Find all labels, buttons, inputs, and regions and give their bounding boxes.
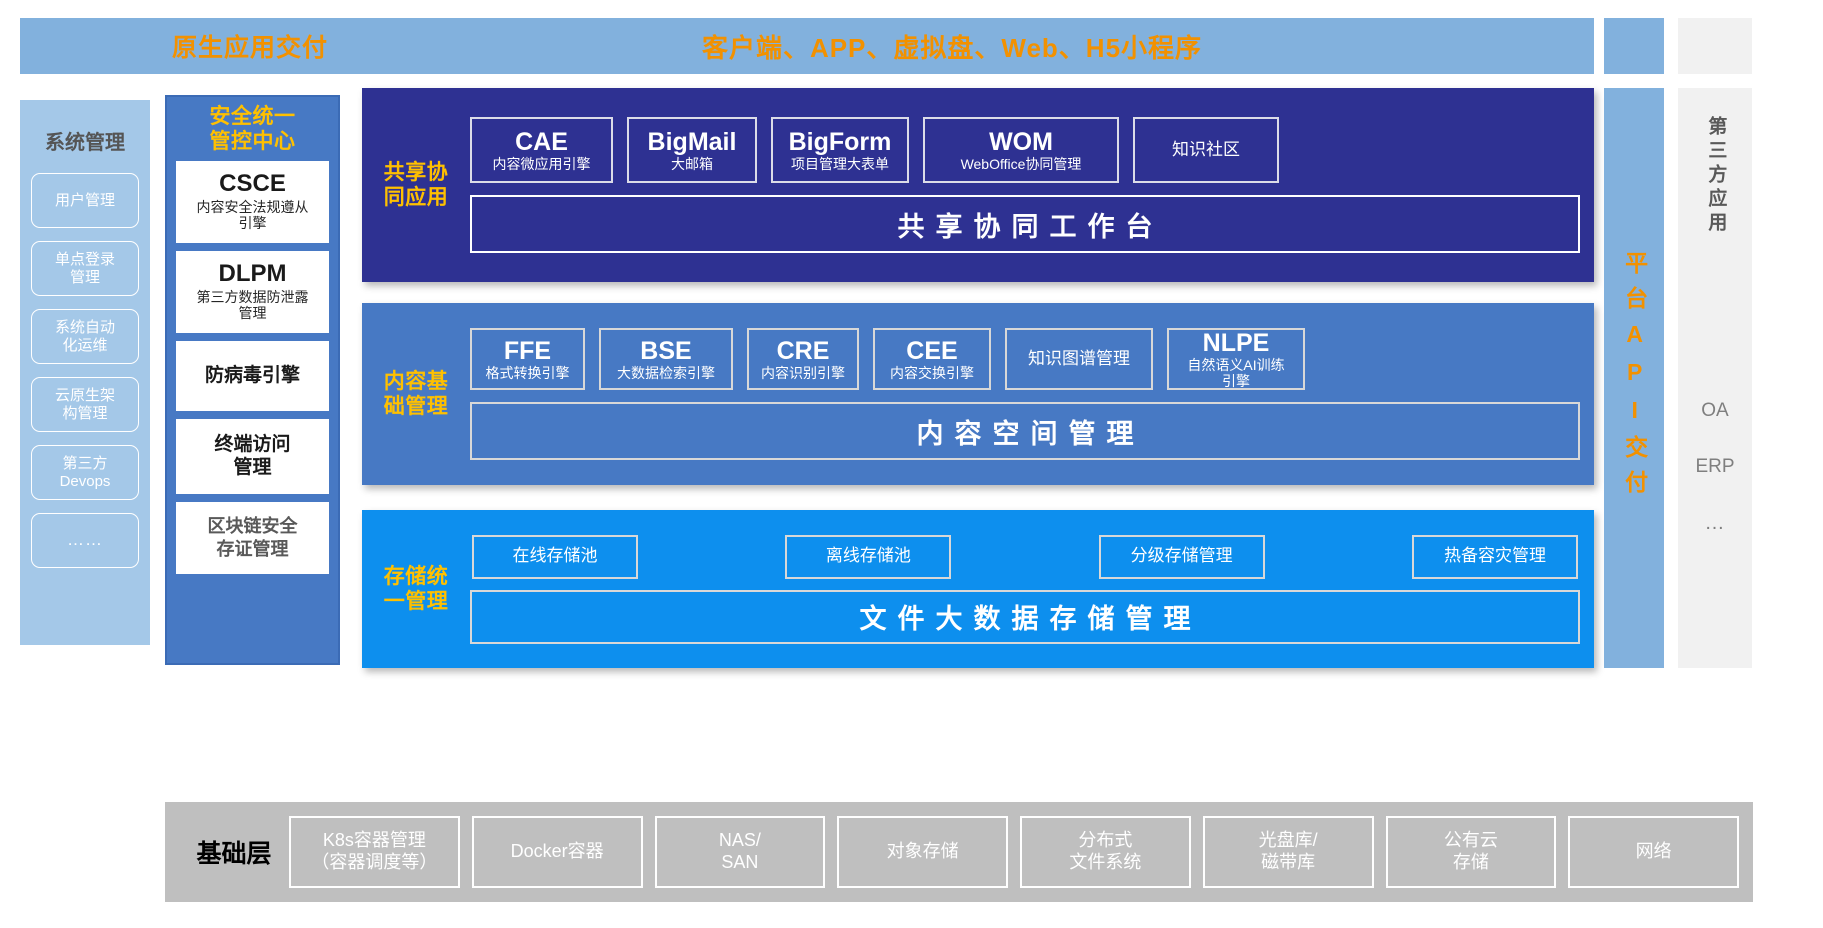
base-chip-optical-tape-library[interactable]: 光盘库/磁带库	[1203, 816, 1374, 888]
base-chip-k8s[interactable]: K8s容器管理（容器调度等）	[289, 816, 460, 888]
bigmail-desc: 大邮箱	[671, 156, 713, 172]
shared-collaboration-panel: 共享协同应用 CAE 内容微应用引擎 BigMail 大邮箱 BigForm 项…	[362, 88, 1594, 282]
third-party-title: 第三方应用	[1704, 116, 1727, 366]
antivirus-engine-label: 防病毒引擎	[179, 364, 326, 387]
storage-unified-management-panel: 存储统一管理 在线存储池 离线存储池 分级存储管理 热备容灾管理 文件大数据存储…	[362, 510, 1594, 668]
system-management-title: 系统管理	[20, 126, 150, 155]
hot-standby-dr-label: 热备容灾管理	[1444, 546, 1546, 566]
wom-code: WOM	[989, 128, 1053, 156]
platform-api-delivery-column: 平台API交付	[1604, 88, 1664, 668]
chip-bigmail[interactable]: BigMail 大邮箱	[627, 117, 757, 183]
wom-desc: WebOffice协同管理	[961, 156, 1082, 172]
cre-desc: 内容识别引擎	[761, 365, 845, 381]
bigform-desc: 项目管理大表单	[791, 156, 889, 172]
csce-desc: 内容安全法规遵从引擎	[179, 199, 326, 231]
terminal-access-label: 终端访问管理	[179, 433, 326, 479]
nlpe-desc: 自然语义AI训练引擎	[1187, 357, 1284, 389]
bigform-code: BigForm	[789, 128, 892, 156]
content-space-management-bar[interactable]: 内容空间管理	[470, 402, 1580, 460]
content-base-management-panel: 内容基础管理 FFE 格式转换引擎 BSE 大数据检索引擎 CRE 内容识别引擎…	[362, 303, 1594, 485]
chip-tiered-storage-management[interactable]: 分级存储管理	[1099, 535, 1265, 579]
sys-item-cloud-native-arch[interactable]: 云原生架构管理	[31, 377, 139, 432]
chip-online-storage-pool[interactable]: 在线存储池	[472, 535, 638, 579]
ffe-code: FFE	[504, 337, 551, 365]
native-app-delivery-label: 原生应用交付	[20, 28, 480, 64]
nlpe-code: NLPE	[1203, 329, 1270, 357]
tiered-storage-label: 分级存储管理	[1131, 546, 1233, 566]
sys-item-automated-ops[interactable]: 系统自动化运维	[31, 309, 139, 364]
chip-bigform[interactable]: BigForm 项目管理大表单	[771, 117, 909, 183]
system-management-column: 系统管理 用户管理 单点登录管理 系统自动化运维 云原生架构管理 第三方Devo…	[20, 100, 150, 645]
chip-ffe[interactable]: FFE 格式转换引擎	[470, 328, 585, 390]
sys-item-sso-management[interactable]: 单点登录管理	[31, 241, 139, 296]
security-item-dlpm[interactable]: DLPM 第三方数据防泄露管理	[176, 251, 329, 333]
cee-desc: 内容交换引擎	[890, 365, 974, 381]
base-chip-docker[interactable]: Docker容器	[472, 816, 643, 888]
third-party-item-oa[interactable]: OA	[1701, 400, 1728, 422]
file-bigdata-storage-bar[interactable]: 文件大数据存储管理	[470, 590, 1580, 644]
bse-desc: 大数据检索引擎	[617, 365, 715, 381]
storage-chip-row: 在线存储池 离线存储池 分级存储管理 热备容灾管理	[470, 535, 1580, 579]
shared-collaboration-workbench-bar[interactable]: 共享协同工作台	[470, 195, 1580, 253]
bigmail-code: BigMail	[648, 128, 737, 156]
content-base-management-body: FFE 格式转换引擎 BSE 大数据检索引擎 CRE 内容识别引擎 CEE 内容…	[470, 328, 1594, 460]
security-item-blockchain-evidence[interactable]: 区块链安全存证管理	[176, 502, 329, 574]
top-banner: 原生应用交付 客户端、APP、虚拟盘、Web、H5小程序	[20, 18, 1594, 74]
third-party-column-top-cap	[1678, 18, 1752, 74]
base-chip-nas-san[interactable]: NAS/SAN	[655, 816, 826, 888]
content-base-management-label: 内容基础管理	[362, 369, 470, 419]
api-column-top-cap	[1604, 18, 1664, 74]
dlpm-code: DLPM	[179, 261, 326, 288]
client-channels-label: 客户端、APP、虚拟盘、Web、H5小程序	[480, 28, 1594, 65]
cee-code: CEE	[906, 337, 957, 365]
ffe-desc: 格式转换引擎	[486, 365, 570, 381]
storage-body: 在线存储池 离线存储池 分级存储管理 热备容灾管理 文件大数据存储管理	[470, 535, 1594, 644]
knowledge-community-label: 知识社区	[1172, 140, 1240, 160]
base-chip-network[interactable]: 网络	[1568, 816, 1739, 888]
chip-knowledge-community[interactable]: 知识社区	[1133, 117, 1279, 183]
cae-desc: 内容微应用引擎	[493, 156, 591, 172]
chip-offline-storage-pool[interactable]: 离线存储池	[785, 535, 951, 579]
chip-cee[interactable]: CEE 内容交换引擎	[873, 328, 991, 390]
base-chip-object-storage[interactable]: 对象存储	[837, 816, 1008, 888]
storage-unified-management-label: 存储统一管理	[362, 564, 470, 614]
cre-code: CRE	[777, 337, 830, 365]
bse-code: BSE	[640, 337, 691, 365]
online-storage-pool-label: 在线存储池	[513, 546, 598, 566]
base-infrastructure-layer: 基础层 K8s容器管理（容器调度等） Docker容器 NAS/SAN 对象存储…	[165, 802, 1753, 902]
chip-knowledge-graph[interactable]: 知识图谱管理	[1005, 328, 1153, 390]
cae-code: CAE	[515, 128, 568, 156]
knowledge-graph-label: 知识图谱管理	[1028, 349, 1130, 369]
security-item-csce[interactable]: CSCE 内容安全法规遵从引擎	[176, 161, 329, 243]
chip-cae[interactable]: CAE 内容微应用引擎	[470, 117, 613, 183]
architecture-diagram: 原生应用交付 客户端、APP、虚拟盘、Web、H5小程序 系统管理 用户管理 单…	[0, 0, 1823, 928]
third-party-application-column: 第三方应用 OA ERP …	[1678, 88, 1752, 668]
chip-bse[interactable]: BSE 大数据检索引擎	[599, 328, 733, 390]
offline-storage-pool-label: 离线存储池	[826, 546, 911, 566]
dlpm-desc: 第三方数据防泄露管理	[179, 289, 326, 321]
shared-collaboration-label: 共享协同应用	[362, 160, 470, 210]
sys-item-more[interactable]: ……	[31, 513, 139, 568]
base-chip-public-cloud-storage[interactable]: 公有云存储	[1386, 816, 1557, 888]
sys-item-user-management[interactable]: 用户管理	[31, 173, 139, 228]
security-item-antivirus-engine[interactable]: 防病毒引擎	[176, 341, 329, 411]
chip-cre[interactable]: CRE 内容识别引擎	[747, 328, 859, 390]
chip-hot-standby-dr-management[interactable]: 热备容灾管理	[1412, 535, 1578, 579]
platform-api-delivery-label: 平台API交付	[1621, 251, 1646, 505]
security-center-title: 安全统一管控中心	[176, 105, 329, 155]
content-base-chip-row: FFE 格式转换引擎 BSE 大数据检索引擎 CRE 内容识别引擎 CEE 内容…	[470, 328, 1580, 390]
chip-nlpe[interactable]: NLPE 自然语义AI训练引擎	[1167, 328, 1305, 390]
security-control-center-column: 安全统一管控中心 CSCE 内容安全法规遵从引擎 DLPM 第三方数据防泄露管理…	[165, 95, 340, 665]
base-chip-distributed-fs[interactable]: 分布式文件系统	[1020, 816, 1191, 888]
shared-collaboration-body: CAE 内容微应用引擎 BigMail 大邮箱 BigForm 项目管理大表单 …	[470, 117, 1594, 253]
blockchain-evidence-label: 区块链安全存证管理	[179, 515, 326, 560]
chip-wom[interactable]: WOM WebOffice协同管理	[923, 117, 1119, 183]
csce-code: CSCE	[179, 171, 326, 198]
base-layer-title: 基础层	[179, 834, 289, 870]
sys-item-third-party-devops[interactable]: 第三方Devops	[31, 445, 139, 500]
third-party-item-more[interactable]: …	[1705, 512, 1726, 535]
third-party-item-erp[interactable]: ERP	[1695, 456, 1734, 478]
security-item-terminal-access[interactable]: 终端访问管理	[176, 419, 329, 494]
base-layer-items: K8s容器管理（容器调度等） Docker容器 NAS/SAN 对象存储 分布式…	[289, 816, 1739, 888]
shared-collaboration-chip-row: CAE 内容微应用引擎 BigMail 大邮箱 BigForm 项目管理大表单 …	[470, 117, 1580, 183]
